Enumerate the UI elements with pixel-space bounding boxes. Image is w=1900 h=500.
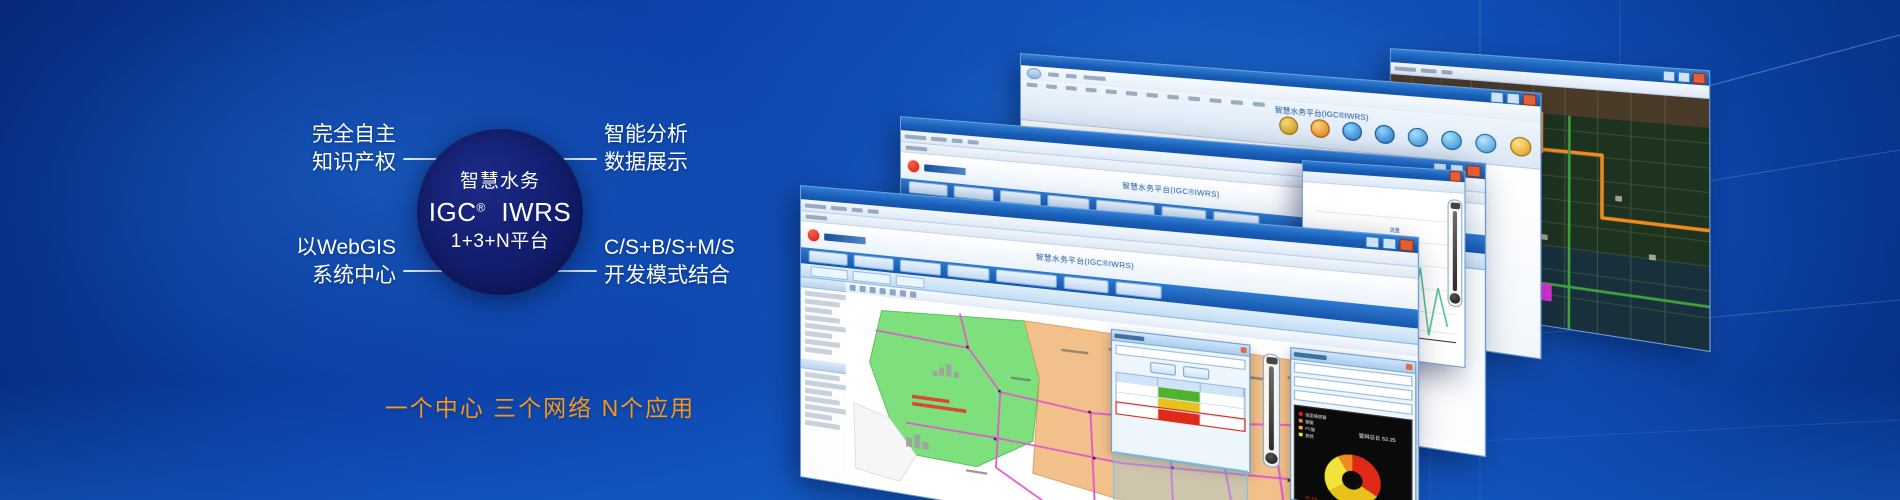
maximize-icon[interactable]: [1678, 71, 1691, 83]
legend-item: [805, 388, 832, 397]
close-icon[interactable]: [1467, 164, 1481, 177]
secondary-app-title: 智慧水务平台(IGC®IWRS): [1122, 181, 1219, 201]
clear-button[interactable]: [1183, 366, 1209, 380]
platform-hub-circle: 智慧水务 IGC® IWRS 1+3+N平台: [417, 129, 583, 295]
module-icon-4[interactable]: [1375, 124, 1395, 145]
module-icon-7[interactable]: [1475, 133, 1496, 154]
water-drop-logo-icon: [907, 159, 921, 174]
feature-top-left-line2: 知识产权: [196, 149, 396, 177]
query-button[interactable]: [1150, 362, 1176, 376]
menu-item[interactable]: [968, 139, 979, 144]
menu-item[interactable]: [905, 134, 926, 140]
feature-top-left-line1: 完全自主: [196, 121, 396, 149]
hub-title: 智慧水务: [460, 171, 540, 193]
close-icon[interactable]: [1399, 238, 1414, 251]
ribbon-command[interactable]: [1066, 86, 1077, 91]
menu-item[interactable]: [868, 208, 879, 213]
print-tool-icon[interactable]: [910, 291, 916, 298]
dialog-close-icon[interactable]: [1241, 347, 1247, 353]
web-client-gis-window[interactable]: 智慧水务平台(IGC®IWRS): [800, 185, 1419, 500]
svg-text:35.1%: 35.1%: [1305, 495, 1317, 500]
close-icon[interactable]: [1523, 93, 1537, 106]
menu-item[interactable]: [1395, 66, 1416, 72]
pipe-length-chart-dialog[interactable]: 球墨铸铁管 钢管 PE管 其他 管网总长 52.25: [1290, 347, 1416, 500]
analysis-dialog-body[interactable]: [1112, 341, 1249, 436]
promo-banner: 智慧水务 IGC® IWRS 1+3+N平台 完全自主 知识产权 以WebGIS…: [0, 0, 1900, 500]
module-icon-1[interactable]: [1279, 116, 1298, 136]
connector-bottom-right: [555, 270, 597, 272]
ribbon-command[interactable]: [1126, 91, 1137, 96]
close-icon[interactable]: [1693, 72, 1706, 84]
hub-igc: IGC: [429, 197, 477, 227]
minimize-icon[interactable]: [1490, 91, 1504, 103]
ribbon-command[interactable]: [1106, 89, 1117, 94]
menu-item[interactable]: [1421, 68, 1437, 73]
brand-wordmark: [924, 164, 965, 175]
pan-pad-icon[interactable]: [1265, 452, 1277, 465]
ribbon-command[interactable]: [1253, 102, 1265, 107]
layer-item[interactable]: [805, 347, 832, 356]
url-text[interactable]: [806, 214, 827, 220]
sub-tab[interactable]: [811, 266, 848, 280]
close-icon[interactable]: [1450, 171, 1462, 182]
analysis-dialog[interactable]: [1111, 329, 1251, 474]
maximize-icon[interactable]: [1506, 92, 1520, 104]
hub-platform-label: 1+3+N平台: [451, 231, 550, 253]
url-text[interactable]: [906, 145, 927, 151]
ribbon-command[interactable]: [1210, 98, 1222, 103]
select-tool-icon[interactable]: [850, 285, 856, 292]
dialog-title: [1114, 333, 1144, 341]
layer-item[interactable]: [805, 307, 832, 315]
zoom-out-tool-icon[interactable]: [880, 288, 886, 295]
ribbon-command[interactable]: [1147, 93, 1158, 98]
module-icon-6[interactable]: [1441, 130, 1462, 151]
menu-item[interactable]: [1441, 69, 1452, 74]
dialog-title: [1294, 351, 1327, 359]
maximize-icon[interactable]: [1382, 237, 1396, 250]
menu-item[interactable]: [931, 136, 947, 141]
legend-item: [805, 420, 840, 430]
ribbon-command[interactable]: [1046, 84, 1057, 89]
sub-tab[interactable]: [853, 270, 891, 284]
water-drop-logo-icon: [807, 228, 821, 243]
connector-bottom-left: [403, 270, 445, 272]
zoom-slider-knob[interactable]: [1450, 202, 1460, 209]
feature-top-left: 完全自主 知识产权: [196, 121, 396, 178]
ribbon-tab[interactable]: [1084, 75, 1106, 81]
ribbon-command[interactable]: [1027, 83, 1038, 88]
zoom-slider-track[interactable]: [1453, 211, 1457, 291]
map-zoom-control[interactable]: [1448, 199, 1463, 308]
minimize-icon[interactable]: [1365, 235, 1379, 248]
module-icon-3[interactable]: [1342, 121, 1362, 141]
feature-bottom-left: 以WebGIS 系统中心: [176, 234, 396, 291]
feature-bottom-left-line2: 系统中心: [176, 262, 396, 290]
donut-chart-panel: 球墨铸铁管 钢管 PE管 其他 管网总长 52.25: [1294, 404, 1413, 500]
dialog-close-icon[interactable]: [1406, 364, 1413, 371]
gis-zoom-control[interactable]: [1263, 353, 1280, 469]
gis-app-title: 智慧水务平台(IGC®IWRS): [1036, 252, 1134, 272]
ribbon-command[interactable]: [1231, 100, 1243, 105]
chart-dialog-body[interactable]: 球墨铸铁管 钢管 PE管 其他 管网总长 52.25: [1291, 360, 1415, 500]
layer-item[interactable]: [805, 331, 832, 339]
app-menu-orb-icon[interactable]: [1027, 67, 1042, 79]
feature-bottom-left-line1: 以WebGIS: [176, 234, 396, 262]
module-icon-5[interactable]: [1408, 127, 1428, 148]
brand-wordmark: [824, 233, 865, 244]
ribbon-command[interactable]: [1167, 94, 1179, 99]
zoom-slider-track[interactable]: [1269, 366, 1274, 451]
hub-product-code: IGC® IWRS: [429, 197, 571, 228]
pan-tool-icon[interactable]: [860, 286, 866, 293]
layer-tree-panel[interactable]: [801, 277, 847, 481]
identify-tool-icon[interactable]: [900, 290, 906, 297]
screenshot-stack: 智慧水务平台(IGC®IWRS): [790, 20, 1900, 490]
minimize-icon[interactable]: [1663, 70, 1676, 82]
sub-tab[interactable]: [896, 275, 925, 288]
module-icon-8[interactable]: [1510, 136, 1531, 157]
hub-iwrs: IWRS: [501, 197, 571, 227]
registered-mark-icon: ®: [477, 201, 486, 215]
ribbon-command[interactable]: [1188, 96, 1200, 101]
ribbon-tab[interactable]: [1048, 72, 1059, 77]
menu-item[interactable]: [831, 205, 847, 210]
menu-item[interactable]: [805, 203, 826, 209]
zoom-in-tool-icon[interactable]: [870, 287, 876, 294]
donut-chart-graphic: 球墨铸铁管 钢管 PE管 其他 管网总长 52.25: [1295, 406, 1411, 500]
menu-item[interactable]: [852, 207, 863, 212]
menu-item[interactable]: [952, 138, 963, 143]
ribbon-command[interactable]: [1086, 88, 1097, 93]
zoom-slider-knob[interactable]: [1266, 357, 1277, 365]
measure-tool-icon[interactable]: [890, 289, 896, 296]
banner-tagline: 一个中心 三个网络 N个应用: [300, 389, 780, 423]
ribbon-tab[interactable]: [1066, 74, 1077, 79]
module-icon-2[interactable]: [1311, 119, 1330, 139]
pan-pad-icon[interactable]: [1450, 293, 1461, 305]
